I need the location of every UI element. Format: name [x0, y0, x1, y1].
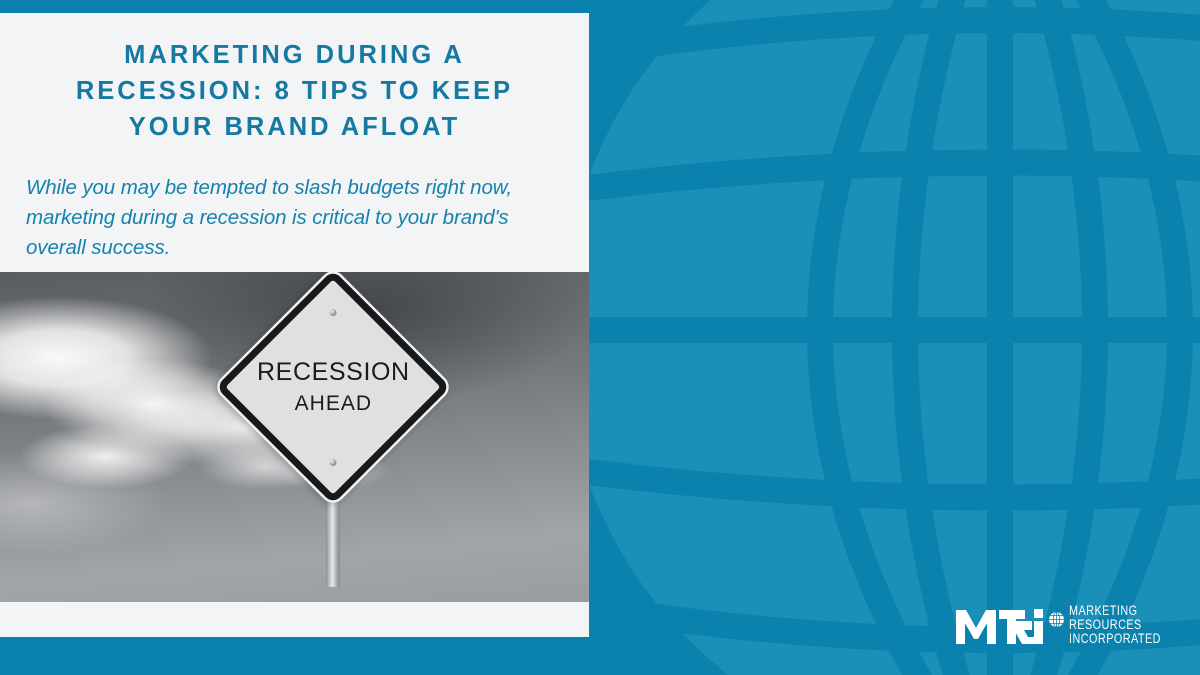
- mri-logo: MARKETING RESOURCES INCORPORATED: [954, 604, 1184, 646]
- sign-text-ahead: AHEAD: [228, 393, 438, 414]
- mri-logo-mark: [954, 604, 1046, 646]
- sign-bolt-top-icon: [330, 309, 337, 316]
- logo-globe-icon: [1048, 611, 1065, 628]
- page-subtitle: While you may be tempted to slash budget…: [26, 173, 563, 263]
- card-text-block: Marketing During a Recession: 8 Tips to …: [0, 13, 589, 263]
- road-sign: RECESSION AHEAD: [213, 287, 453, 587]
- slide-canvas: Marketing During a Recession: 8 Tips to …: [0, 0, 1200, 675]
- logo-wordmark: MARKETING RESOURCES INCORPORATED: [1069, 604, 1184, 645]
- sign-face-text: RECESSION AHEAD: [228, 360, 438, 414]
- logo-word-resources: RESOURCES: [1069, 618, 1161, 632]
- content-card: Marketing During a Recession: 8 Tips to …: [0, 13, 589, 637]
- logo-word-marketing: MARKETING: [1069, 604, 1161, 618]
- page-title: Marketing During a Recession: 8 Tips to …: [26, 37, 563, 146]
- sign-text-recession: RECESSION: [228, 360, 438, 385]
- logo-word-incorporated: INCORPORATED: [1069, 632, 1161, 646]
- recession-sign-photo: RECESSION AHEAD: [0, 272, 589, 602]
- sign-bolt-bottom-icon: [330, 459, 337, 466]
